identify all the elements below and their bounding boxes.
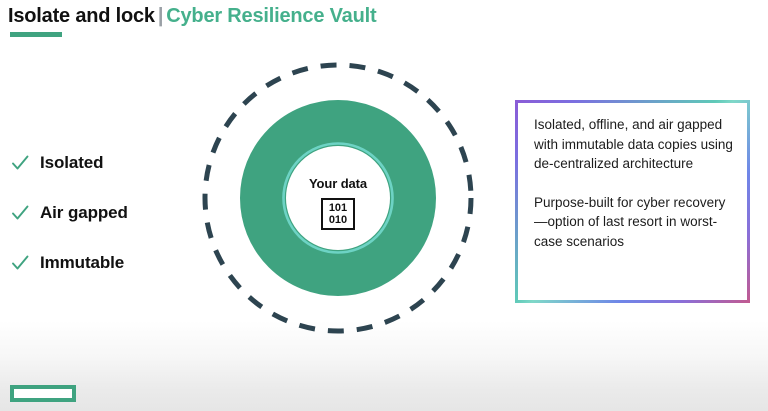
description-panel: Isolated, offline, and air gapped with i… <box>515 100 750 303</box>
vault-concentric-diagram: Your data 101 010 <box>188 48 488 348</box>
list-item-label: Isolated <box>40 153 103 173</box>
title-underline-accent <box>10 32 62 37</box>
check-icon <box>8 251 32 275</box>
list-item: Air gapped <box>8 188 198 238</box>
page-title: Isolate and lock|Cyber Resilience Vault <box>8 4 376 28</box>
hpe-logo <box>10 385 76 402</box>
list-item-label: Immutable <box>40 253 124 273</box>
list-item: Isolated <box>8 138 198 188</box>
slide-canvas: Isolate and lock|Cyber Resilience Vault … <box>0 0 768 411</box>
check-icon <box>8 151 32 175</box>
description-panel-inner: Isolated, offline, and air gapped with i… <box>518 103 747 300</box>
center-data-label: Your data <box>188 176 488 191</box>
binary-data-icon: 101 010 <box>321 198 355 230</box>
list-item: Immutable <box>8 238 198 288</box>
title-separator: | <box>155 5 166 27</box>
title-line: Isolate and lock|Cyber Resilience Vault <box>8 4 376 28</box>
binary-row-bottom: 010 <box>329 214 347 226</box>
title-main-text: Isolate and lock <box>8 5 155 27</box>
binary-row-top: 101 <box>329 202 347 214</box>
feature-bullet-list: Isolated Air gapped Immutable <box>8 138 198 288</box>
list-item-label: Air gapped <box>40 203 128 223</box>
description-paragraph: Purpose-built for cyber recovery—option … <box>534 193 733 252</box>
footer-band <box>0 360 768 411</box>
check-icon <box>8 201 32 225</box>
description-paragraph: Isolated, offline, and air gapped with i… <box>534 115 733 174</box>
title-accent-text: Cyber Resilience Vault <box>166 5 376 27</box>
